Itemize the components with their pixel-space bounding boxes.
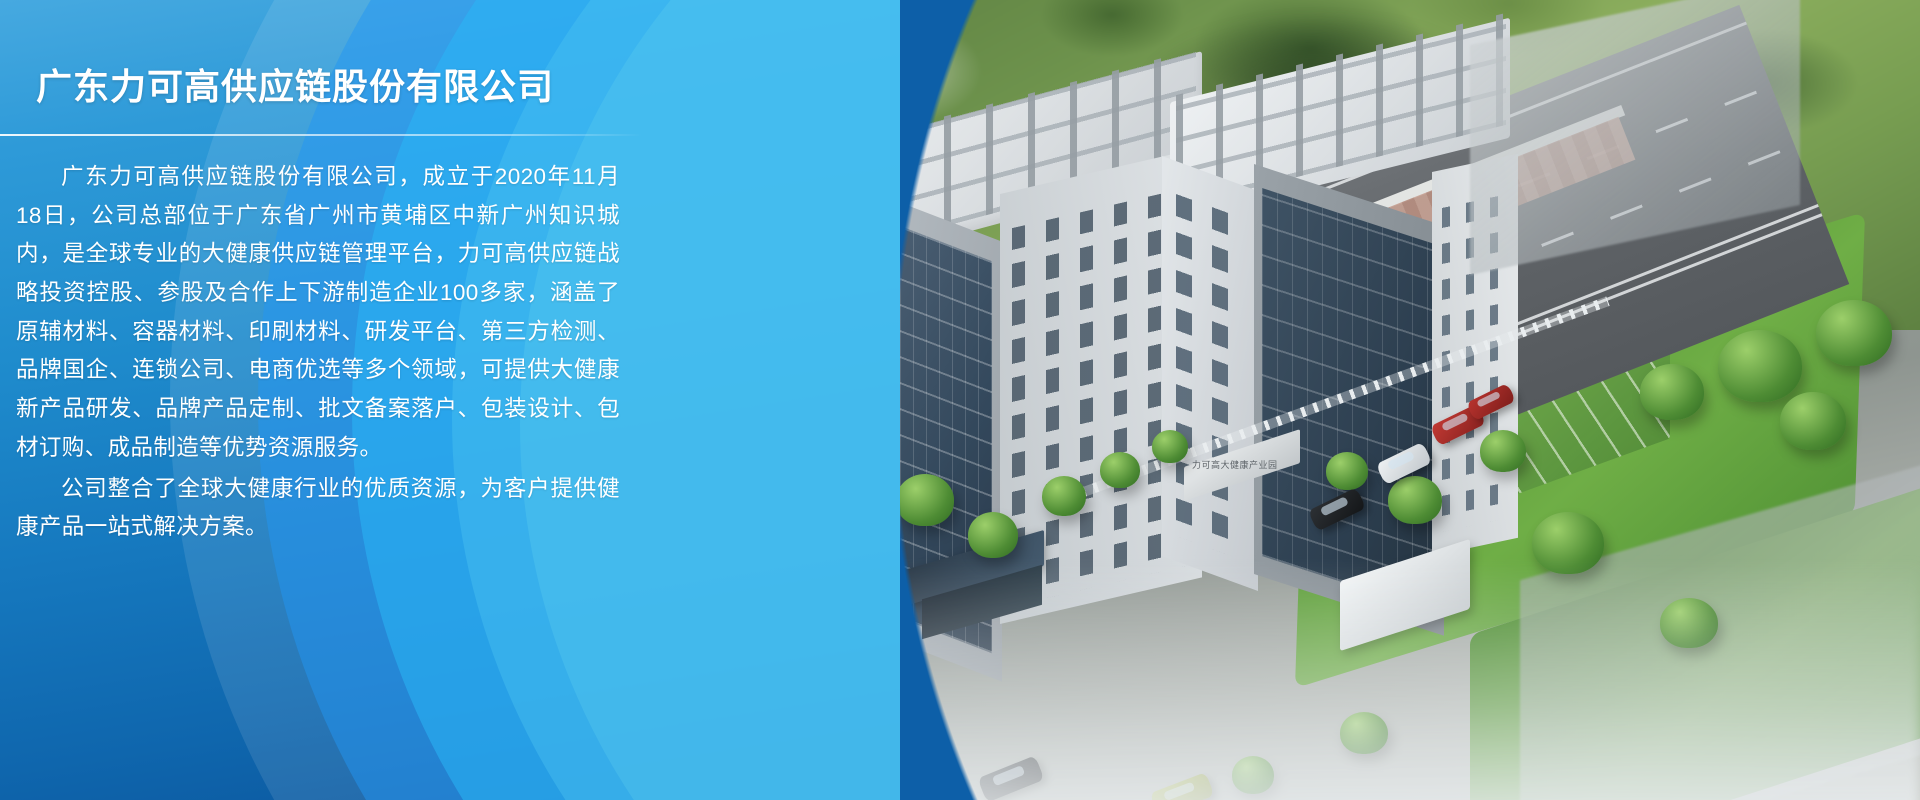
tree	[1388, 476, 1442, 524]
tree	[1480, 430, 1526, 472]
tree	[1640, 364, 1704, 420]
company-profile-banner: 力可高大健康产业园	[0, 0, 1920, 800]
atmospheric-haze	[780, 560, 1920, 800]
window-grid	[1176, 186, 1246, 561]
description-paragraph-2: 公司整合了全球大健康行业的优质资源，为客户提供健康产品一站式解决方案。	[16, 470, 620, 547]
text-panel: 广东力可高供应链股份有限公司 广东力可高供应链股份有限公司，成立于2020年11…	[0, 0, 900, 800]
aerial-campus-photo: 力可高大健康产业园	[780, 0, 1920, 800]
tree	[1100, 452, 1140, 488]
tree	[896, 474, 954, 526]
tree	[1152, 430, 1188, 463]
curtain-wall-glazing	[1262, 188, 1438, 613]
tree	[1718, 330, 1802, 402]
campus-sign-text: 力可高大健康产业园	[1184, 448, 1300, 471]
tree	[1780, 392, 1846, 450]
description-paragraph-1: 广东力可高供应链股份有限公司，成立于2020年11月18日，公司总部位于广东省广…	[16, 158, 620, 468]
company-description: 广东力可高供应链股份有限公司，成立于2020年11月18日，公司总部位于广东省广…	[0, 136, 620, 547]
tree	[1042, 476, 1086, 516]
tree	[1816, 300, 1892, 366]
tree	[1326, 452, 1368, 490]
photo-circular-mask: 力可高大健康产业园	[780, 0, 1920, 800]
company-title: 广东力可高供应链股份有限公司	[0, 58, 640, 110]
panel-content: 广东力可高供应链股份有限公司 广东力可高供应链股份有限公司，成立于2020年11…	[0, 0, 640, 547]
tree	[968, 512, 1018, 558]
